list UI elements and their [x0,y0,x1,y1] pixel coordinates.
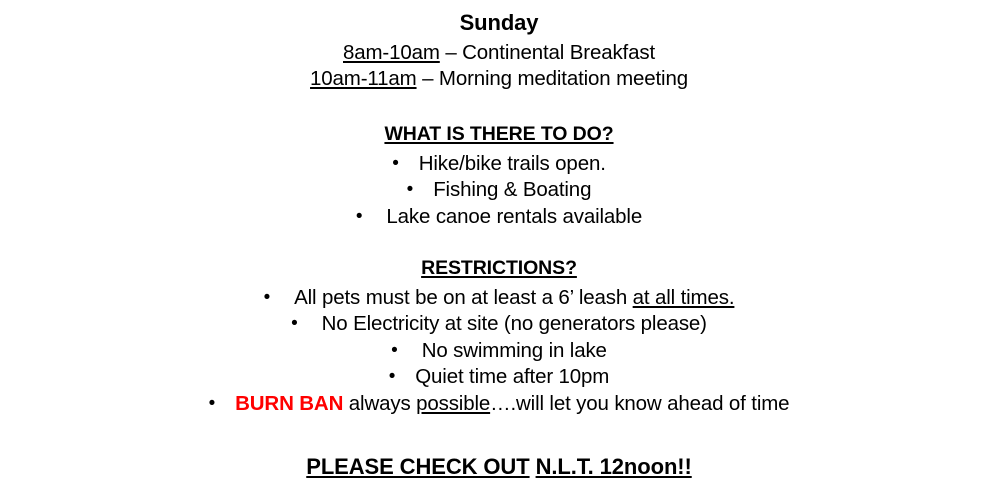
list-item-burn-ban: •BURN BAN always possible….will let you … [0,394,998,415]
list-item: •Hike/bike trails open. [0,154,998,175]
list-item: •All pets must be on at least a 6’ leash… [0,288,998,309]
section-heading-text: RESTRICTIONS? [421,257,577,279]
list-item: •No swimming in lake [0,341,998,362]
bullet-icon: • [209,393,216,414]
list-item-text: All pets must be on at least a 6’ leash [294,286,633,309]
section-spacer [0,94,998,125]
section-heading-activities: WHAT IS THERE TO DO? [0,125,998,145]
checkout-notice: PLEASE CHECK OUT N.L.T. 12noon!! [0,456,998,478]
list-item: •Quiet time after 10pm [0,367,998,388]
section-heading-text: WHAT IS THERE TO DO? [384,123,613,145]
burn-ban-alert: BURN BAN [235,392,343,415]
list-item: •Fishing & Boating [0,180,998,201]
document-body: Sunday 8am-10am – Continental Breakfast … [0,0,998,488]
schedule-row-meditation: 10am-11am – Morning meditation meeting [0,69,998,90]
schedule-time: 10am-11am [310,67,417,90]
section-heading-restrictions: RESTRICTIONS? [0,259,998,279]
list-item-text: No swimming in lake [422,339,607,362]
list-item-emphasis: possible [416,392,490,415]
schedule-activity: Morning meditation meeting [439,67,688,90]
bullet-icon: • [389,366,396,387]
list-item: •No Electricity at site (no generators p… [0,314,998,335]
section-spacer [0,233,998,259]
list-item-text: Fishing & Boating [433,178,591,201]
list-item-text: always [343,392,416,415]
page-title: Sunday [0,12,998,34]
list-item-text: Hike/bike trails open. [419,152,606,175]
list-item-text: No Electricity at site (no generators pl… [322,312,707,335]
list-item: •Lake canoe rentals available [0,207,998,228]
list-item-text: Quiet time after 10pm [415,365,609,388]
footer-spacer [0,420,998,456]
bullet-icon: • [392,153,399,174]
list-item-text: Lake canoe rentals available [386,205,642,228]
bullet-icon: • [264,287,271,308]
list-item-emphasis: at all times. [633,286,735,309]
bullet-icon: • [391,340,398,361]
schedule-time: 8am-10am [343,41,440,64]
checkout-notice-part-one: PLEASE CHECK OUT [306,454,529,479]
list-item-text-suffix: ….will let you know ahead of time [490,392,789,415]
schedule-separator: – [417,67,439,90]
schedule-activity: Continental Breakfast [462,41,655,64]
bullet-icon: • [291,313,298,334]
bullet-icon: • [407,179,414,200]
checkout-notice-part-two: N.L.T. 12noon!! [536,454,692,479]
schedule-separator: – [440,41,462,64]
bullet-icon: • [356,206,363,227]
schedule-row-breakfast: 8am-10am – Continental Breakfast [0,43,998,64]
